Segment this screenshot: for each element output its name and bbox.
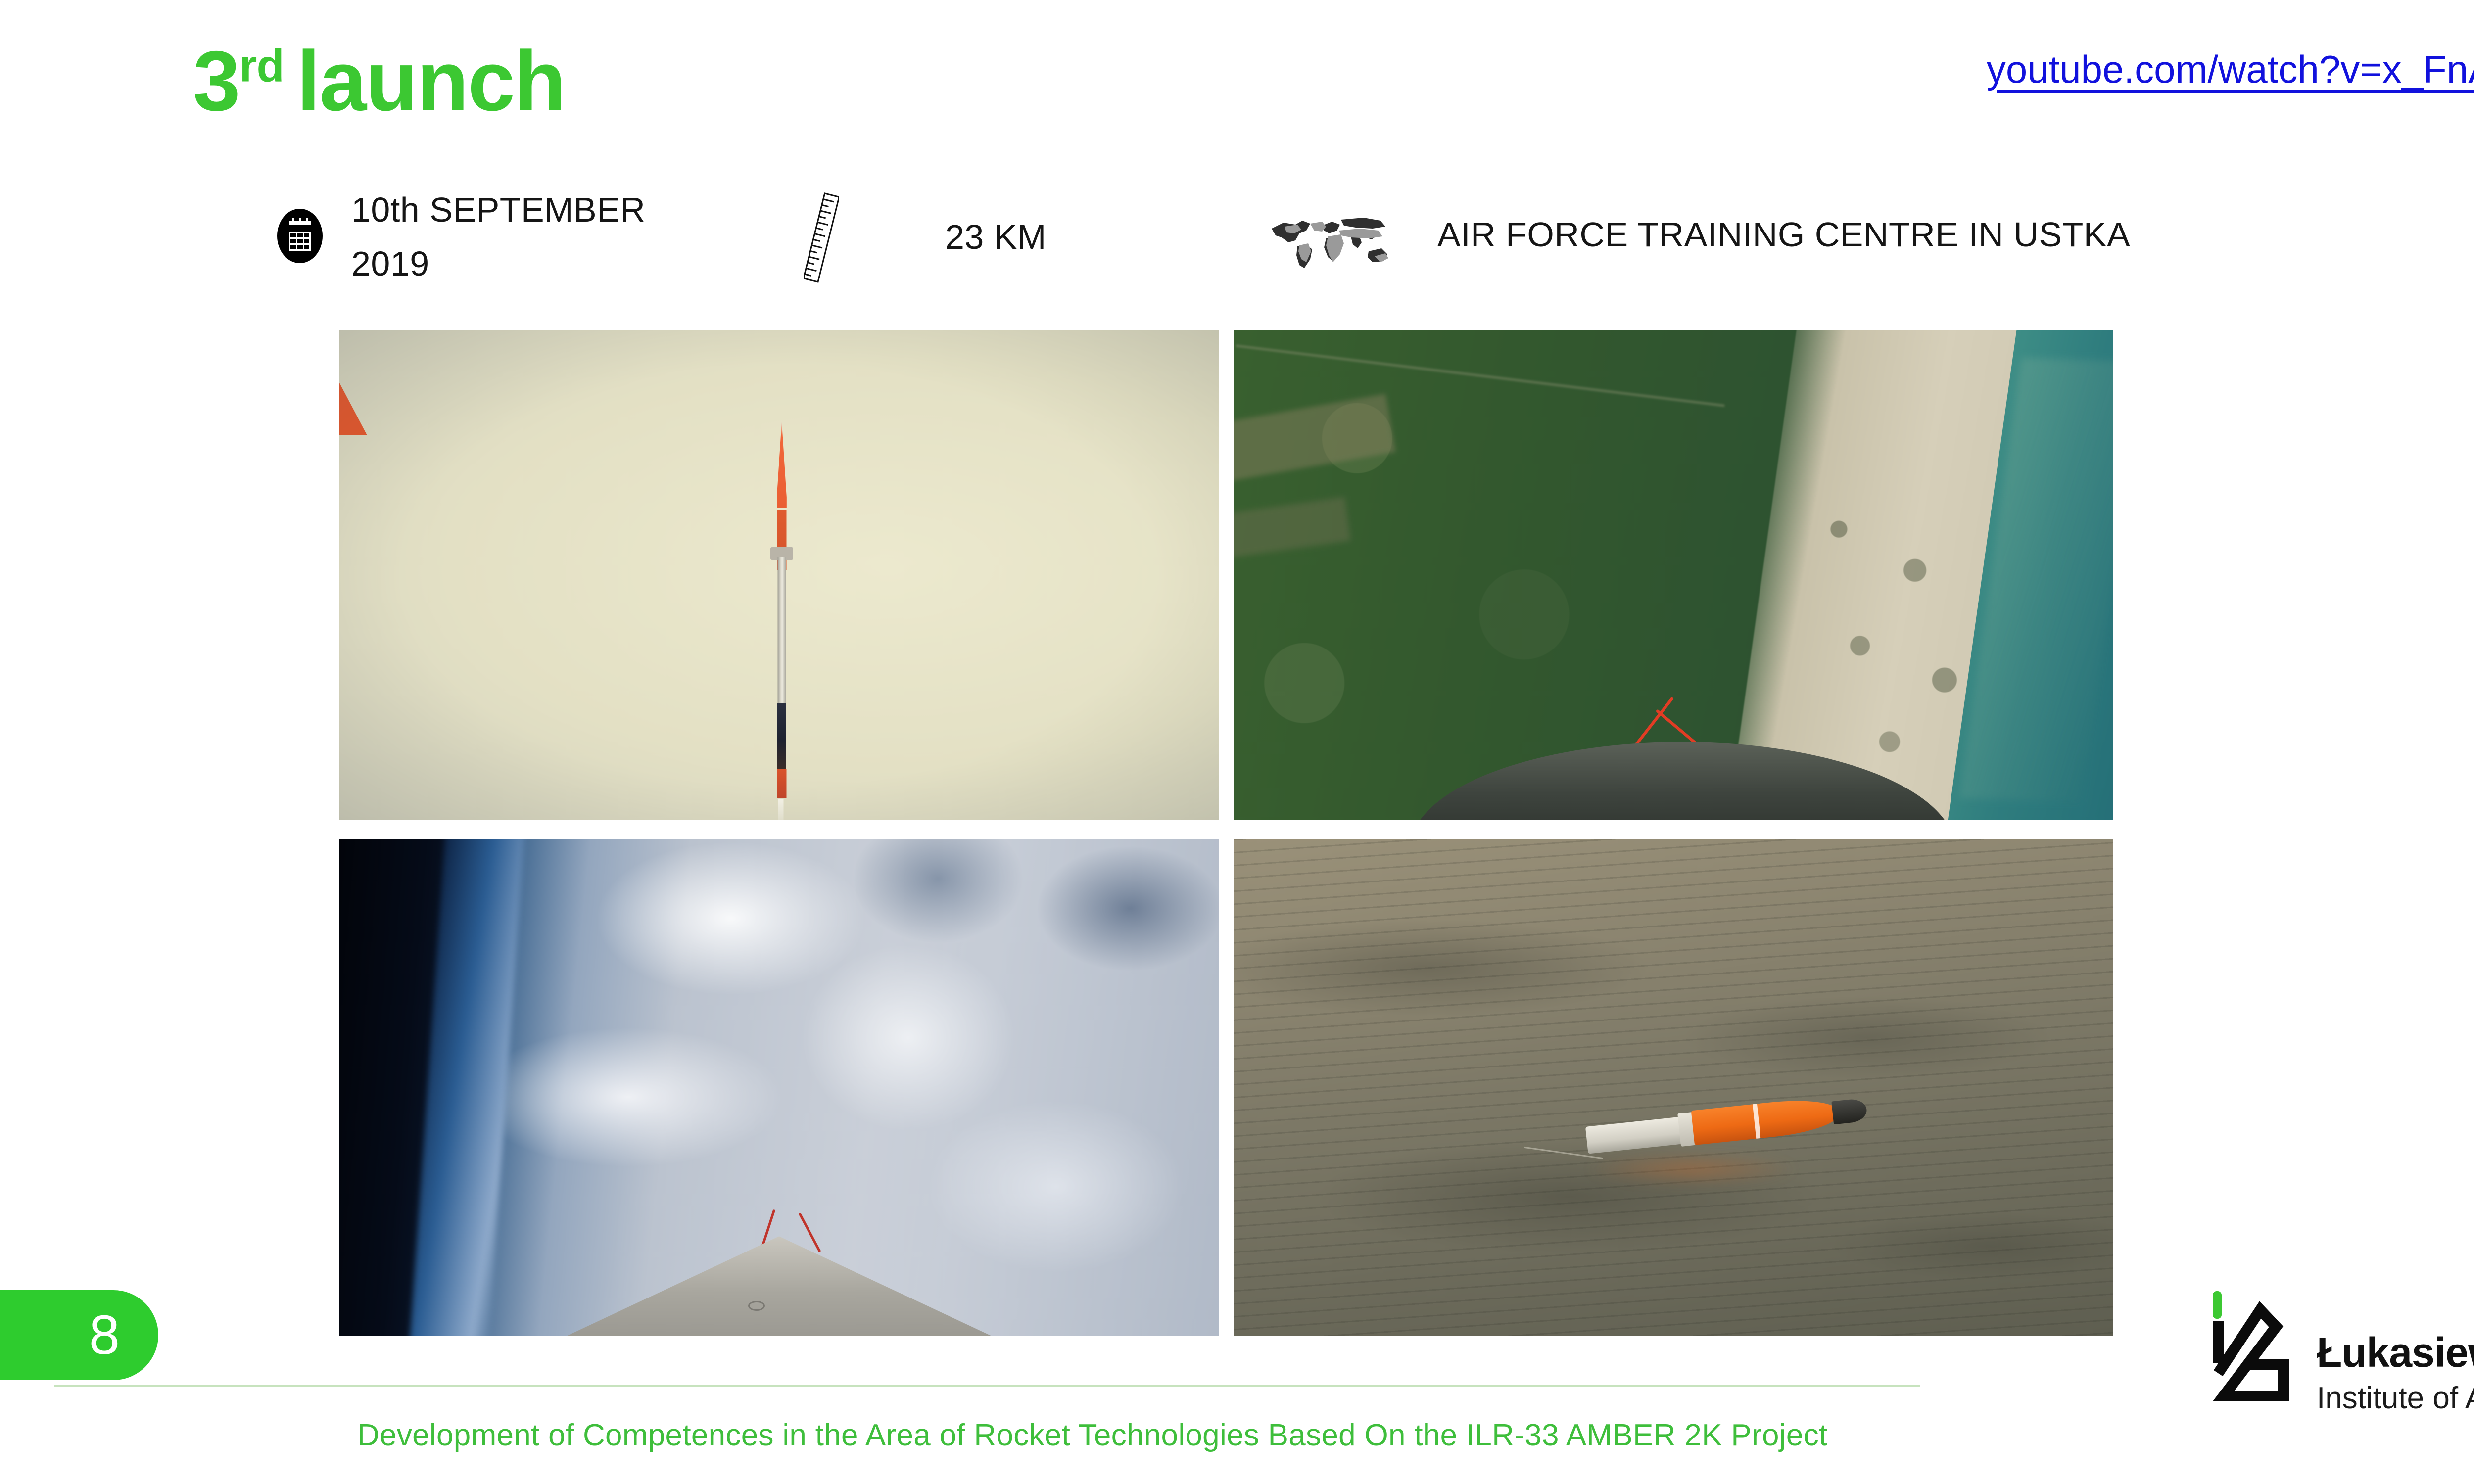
title-word: launch bbox=[297, 34, 565, 129]
photo-sea-recovery bbox=[1234, 839, 2113, 1336]
launch-location: AIR FORCE TRAINING CENTRE IN USTKA bbox=[1437, 208, 2130, 262]
footer-divider bbox=[54, 1385, 1920, 1387]
title-ordinal-number: 3 bbox=[193, 34, 239, 129]
photo-grid bbox=[339, 330, 2113, 1336]
meta-row: 10th SEPTEMBER 2019 23 KM bbox=[277, 183, 2454, 297]
lukasiewicz-subtitle: Institute of Aviation bbox=[2317, 1383, 2474, 1414]
title-ordinal-suffix: rd bbox=[239, 41, 284, 92]
page-title: 3rdlaunch bbox=[193, 39, 565, 124]
page-number-badge: 8 bbox=[0, 1290, 158, 1380]
page-number: 8 bbox=[89, 1307, 120, 1363]
photo-edge-of-space bbox=[339, 839, 1219, 1336]
calendar-icon bbox=[277, 209, 323, 263]
ruler-icon bbox=[804, 192, 839, 283]
photo-onboard-coast bbox=[1234, 330, 2113, 820]
launch-date: 10th SEPTEMBER 2019 bbox=[351, 183, 698, 290]
video-link[interactable]: youtube.com/watch?v=x_FnALj66MU bbox=[1987, 47, 2474, 92]
photo-rocket-ascent bbox=[339, 330, 1219, 820]
lukasiewicz-name: Łukasiewicz bbox=[2317, 1332, 2474, 1373]
lukasiewicz-logo: Łukasiewicz Institute of Aviation bbox=[2202, 1286, 2474, 1449]
world-map-icon bbox=[1267, 214, 1393, 273]
apogee-altitude: 23 KM bbox=[945, 210, 1047, 264]
footer-project-note: Development of Competences in the Area o… bbox=[357, 1418, 1827, 1453]
lukasiewicz-accent-bar bbox=[2213, 1291, 2222, 1319]
